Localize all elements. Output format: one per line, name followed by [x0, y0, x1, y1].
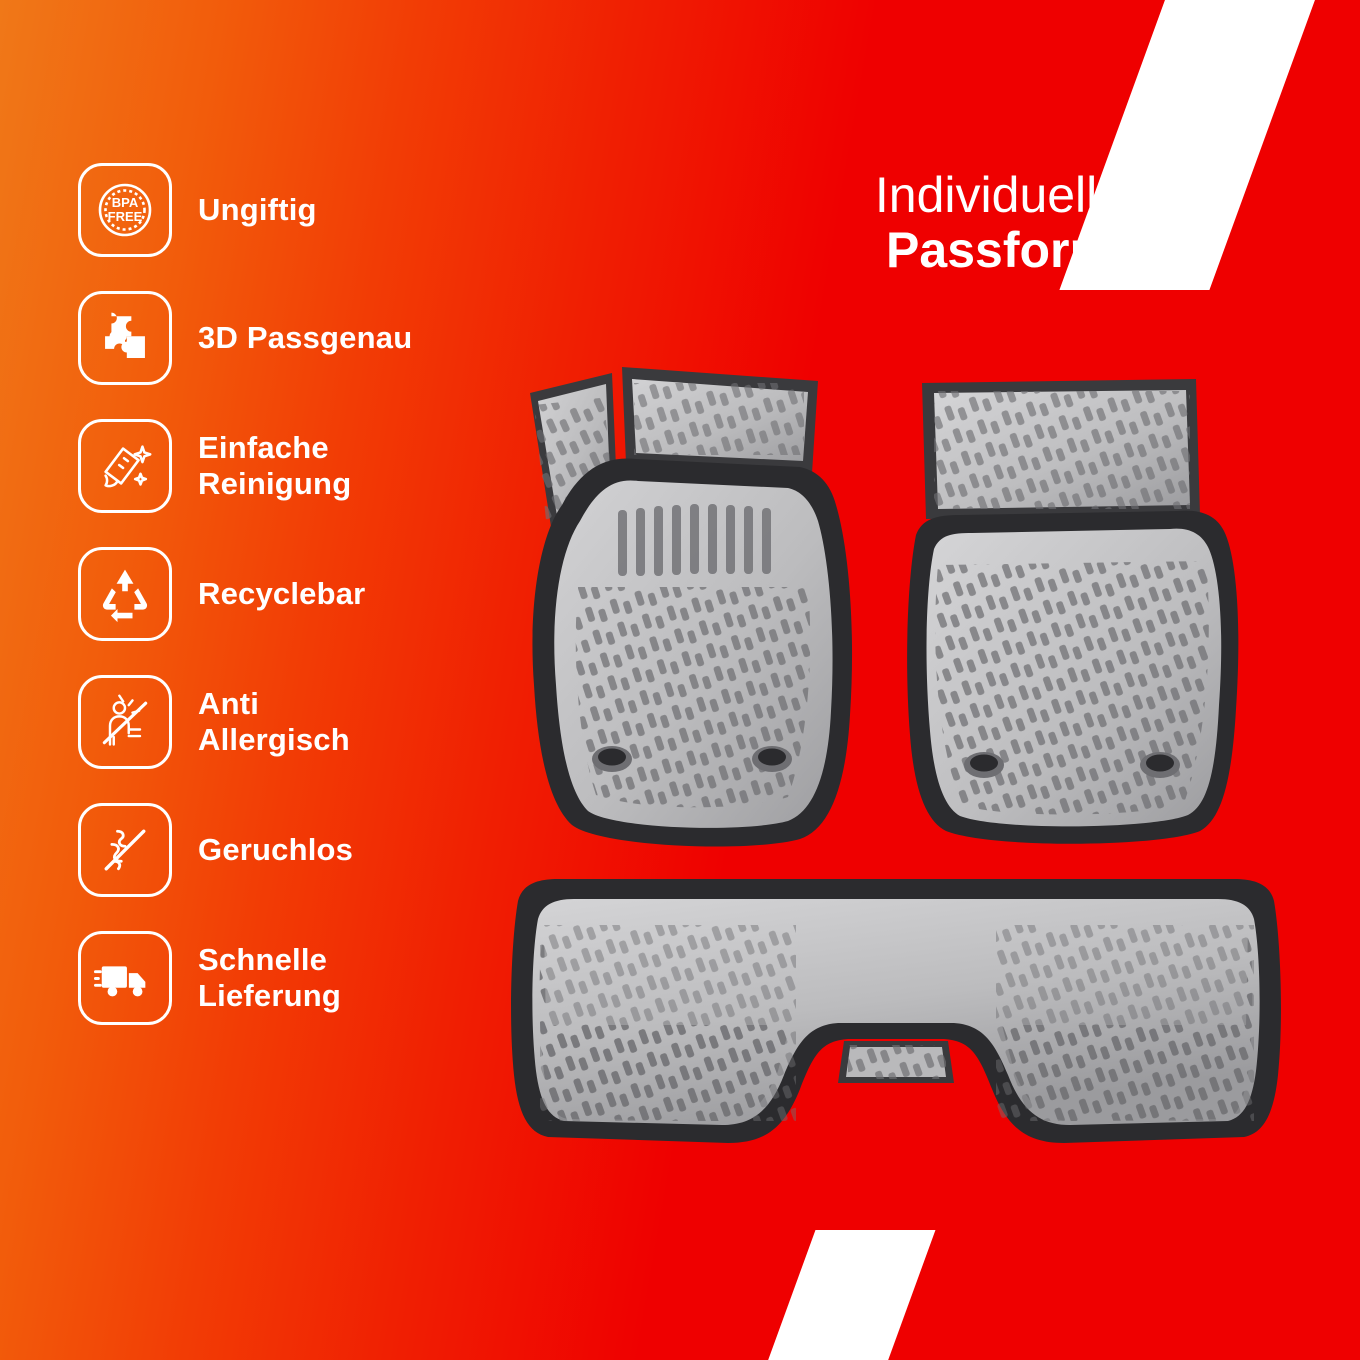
feature-label: 3D Passgenau [198, 320, 412, 356]
puzzle-piece-icon [78, 291, 172, 385]
decorative-slash-bottom [765, 1230, 936, 1360]
delivery-truck-icon [78, 931, 172, 1025]
recycle-icon [78, 547, 172, 641]
front-left-floor-mat [500, 355, 890, 865]
feature-item-3d-passgenau: 3D Passgenau [78, 288, 548, 388]
feature-item-schnelle-lieferung: Schnelle Lieferung [78, 928, 548, 1028]
feature-item-recyclebar: Recyclebar [78, 544, 548, 644]
no-smell-icon [78, 803, 172, 897]
feature-label: Schnelle Lieferung [198, 942, 341, 1014]
feature-label: Geruchlos [198, 832, 353, 868]
product-image-group [500, 355, 1290, 1195]
anti-allergic-icon [78, 675, 172, 769]
feature-list: BPA FREE Ungiftig 3D Passgenau [78, 160, 548, 1028]
front-right-floor-mat [900, 369, 1260, 859]
rear-floor-mat [496, 875, 1296, 1195]
headline-line-2: Passform [700, 223, 1300, 278]
feature-label: Einfache Reinigung [198, 430, 351, 502]
feature-label: Ungiftig [198, 192, 317, 228]
headline-line-1: Individuelle [700, 168, 1300, 223]
feature-item-einfache-reinigung: Einfache Reinigung [78, 416, 548, 516]
bpa-free-icon: BPA FREE [78, 163, 172, 257]
feature-label: Recyclebar [198, 576, 365, 612]
feature-item-anti-allergisch: Anti Allergisch [78, 672, 548, 772]
promo-poster: Individuelle Passform BPA FREE Ungiftig [0, 0, 1360, 1360]
feature-item-ungiftig: BPA FREE Ungiftig [78, 160, 548, 260]
svg-text:BPA: BPA [112, 195, 139, 210]
feature-label: Anti Allergisch [198, 686, 350, 758]
page-title: Individuelle Passform [700, 168, 1300, 278]
feature-item-geruchlos: Geruchlos [78, 800, 548, 900]
cleaning-hand-icon [78, 419, 172, 513]
svg-text:FREE: FREE [108, 209, 143, 224]
